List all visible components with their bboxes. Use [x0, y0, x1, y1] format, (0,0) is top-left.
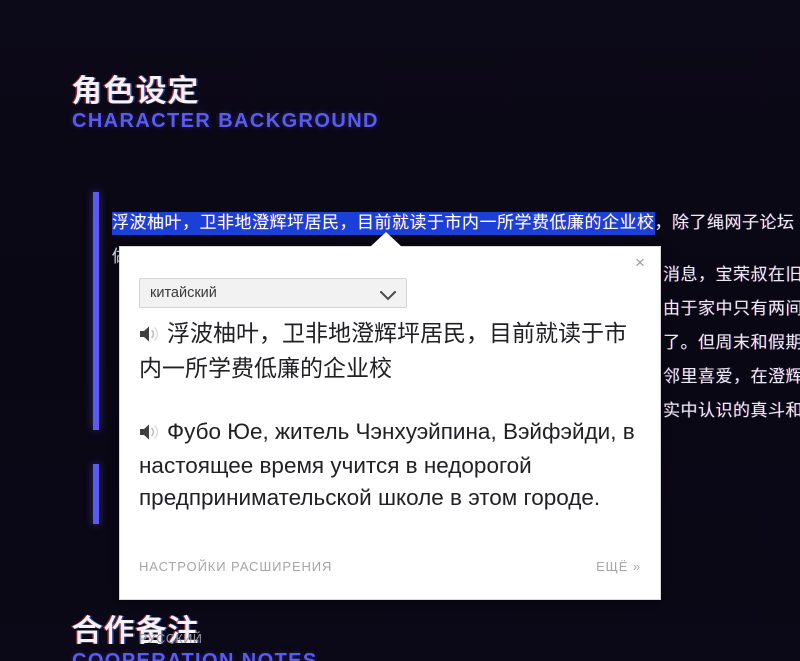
source-text: 浮波柚叶，卫非地澄辉坪居民，目前就读于市内一所学费低廉的企业校: [139, 320, 627, 381]
section-heading-character-background: 角色设定 CHARACTER BACKGROUND: [72, 76, 379, 132]
section-title-en: COOPERATION NOTES: [72, 650, 318, 661]
right-column-line: 消息，宝荣叔在旧: [663, 258, 800, 292]
target-language-label: РУССКИЙ: [139, 632, 203, 646]
speaker-icon[interactable]: [139, 319, 160, 352]
popup-pointer-arrow: [370, 232, 402, 247]
right-column-line: 邻里喜爱，在澄辉: [663, 360, 800, 394]
paragraph-trailing-text: ，除了绳网子论坛: [655, 213, 795, 232]
source-language-select[interactable]: китайский русский английский японский: [139, 278, 407, 308]
section-title-cn: 角色设定: [72, 76, 379, 108]
more-link[interactable]: ЕЩЁ »: [596, 559, 641, 574]
target-text: Фубо Юе, житель Чэнхуэйпина, Вэйфэйди, в…: [139, 419, 635, 510]
article-paragraph-line-1: 浮波柚叶，卫非地澄辉坪居民，目前就读于市内一所学费低廉的企业校，除了绳网子论坛: [112, 206, 800, 240]
right-column-line: 实中认识的真斗和: [663, 394, 800, 428]
translate-popup: × китайский русский английский японский …: [119, 246, 661, 600]
close-icon[interactable]: ×: [628, 252, 652, 276]
article-right-column: 消息，宝荣叔在旧 由于家中只有两间 了。但周末和假期 邻里喜爱，在澄辉 实中认识…: [663, 258, 800, 428]
page-root: 角色设定 CHARACTER BACKGROUND 浮波柚叶，卫非地澄辉坪居民，…: [0, 0, 800, 661]
accent-bar-secondary: [93, 464, 99, 524]
speaker-icon[interactable]: [139, 418, 160, 450]
right-column-line: 由于家中只有两间: [663, 292, 800, 326]
popup-footer: НАСТРОЙКИ РАСШИРЕНИЯ ЕЩЁ »: [120, 541, 660, 599]
extension-settings-link[interactable]: НАСТРОЙКИ РАСШИРЕНИЯ: [139, 559, 332, 574]
section-title-en: CHARACTER BACKGROUND: [72, 110, 379, 132]
accent-bar-primary: [93, 192, 99, 430]
target-text-block: Фубо Юе, житель Чэнхуэйпина, Вэйфэйди, в…: [139, 416, 644, 514]
source-text-block: 浮波柚叶，卫非地澄辉坪居民，目前就读于市内一所学费低廉的企业校: [139, 317, 644, 385]
right-column-line: 了。但周末和假期: [663, 326, 800, 360]
